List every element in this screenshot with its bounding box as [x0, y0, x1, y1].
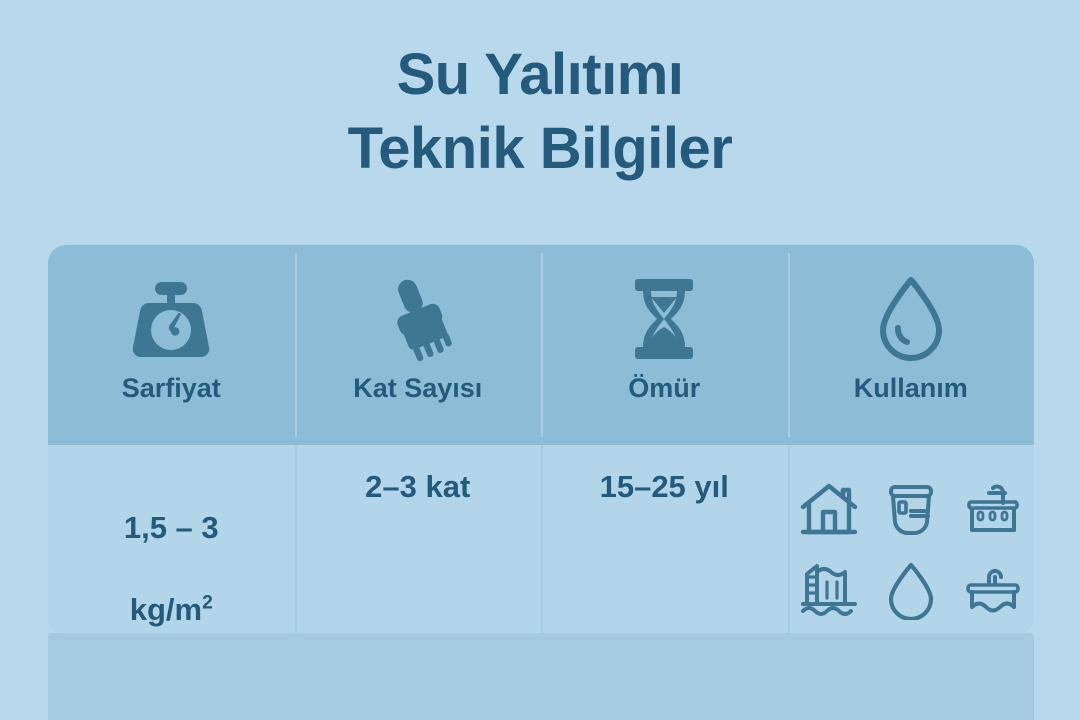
header-label-sarfiyat: Sarfiyat — [122, 373, 221, 404]
water-drop-outline-icon — [881, 560, 941, 620]
usage-icon-grid — [793, 471, 1029, 629]
infographic-poster: Su Yalıtımı Teknik Bilgiler Sarfiyat — [0, 0, 1080, 720]
paint-bucket-icon — [881, 480, 941, 540]
header-cell-omur: Ömür — [541, 245, 788, 445]
water-tank-icon — [799, 560, 859, 620]
title-line-2: Teknik Bilgiler — [0, 112, 1080, 186]
header-label-kullanim: Kullanım — [854, 373, 968, 404]
page-title: Su Yalıtımı Teknik Bilgiler — [0, 38, 1080, 186]
value-omur: 15–25 yıl — [600, 467, 729, 508]
header-cell-kullanim: Kullanım — [788, 245, 1035, 445]
value-sarfiyat: 1,5 – 3 kg/m2 — [124, 467, 219, 631]
pool-faucet-icon — [963, 560, 1023, 620]
value-cell-sarfiyat: 1,5 – 3 kg/m2 — [48, 445, 295, 635]
tech-specs-table: Sarfiyat — [48, 245, 1034, 635]
value-kat-sayisi: 2–3 kat — [365, 467, 470, 508]
header-label-omur: Ömür — [628, 373, 700, 404]
paintbrush-icon — [372, 271, 464, 367]
title-line-1: Su Yalıtımı — [0, 38, 1080, 112]
kitchen-scale-icon — [125, 271, 217, 367]
header-cell-kat-sayisi: Kat Sayısı — [295, 245, 542, 445]
value-sarfiyat-unit-exponent: 2 — [202, 592, 213, 613]
house-icon — [799, 480, 859, 540]
value-cell-kat-sayisi: 2–3 kat — [295, 445, 542, 635]
footer-band — [48, 633, 1034, 720]
value-cell-kullanim — [788, 445, 1035, 635]
value-sarfiyat-amount: 1,5 – 3 — [124, 510, 219, 545]
table-header-row: Sarfiyat — [48, 245, 1034, 445]
header-cell-sarfiyat: Sarfiyat — [48, 245, 295, 445]
hourglass-icon — [618, 271, 710, 367]
water-drop-icon — [865, 271, 957, 367]
table-value-row: 1,5 – 3 kg/m2 2–3 kat 15–25 yıl — [48, 445, 1034, 635]
value-sarfiyat-unit: kg/m — [130, 592, 202, 627]
shower-icon — [963, 480, 1023, 540]
value-cell-omur: 15–25 yıl — [541, 445, 788, 635]
header-label-kat-sayisi: Kat Sayısı — [353, 373, 482, 404]
